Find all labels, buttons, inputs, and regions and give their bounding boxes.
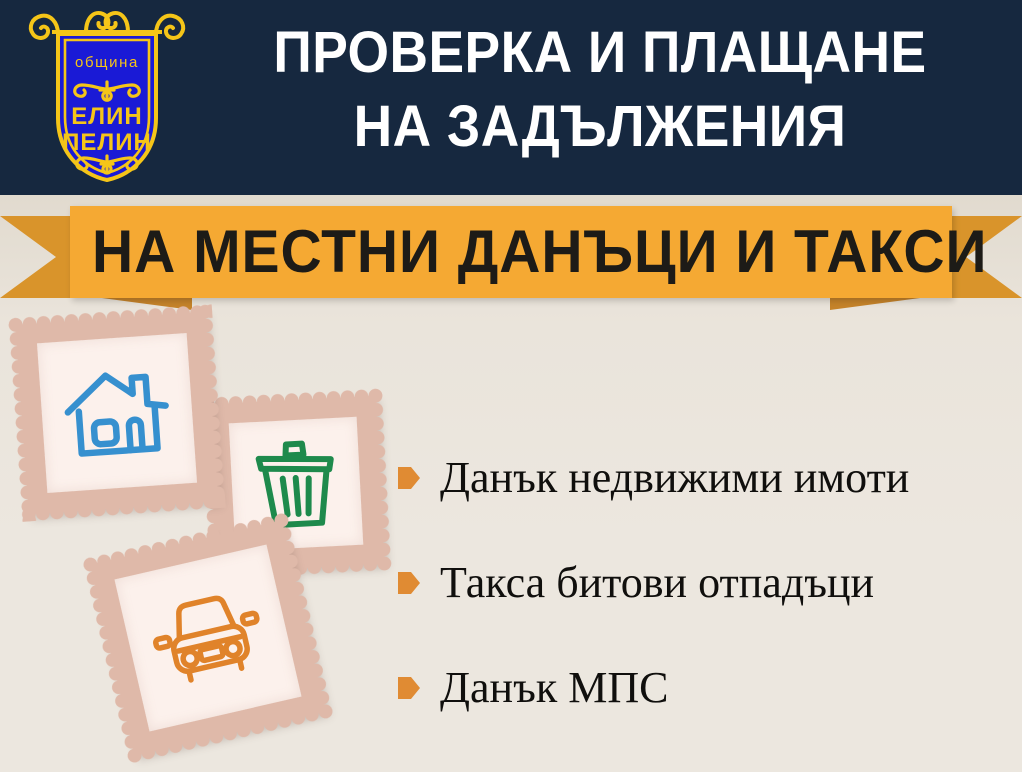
page-title-line-1: ПРОВЕРКА И ПЛАЩАНЕ xyxy=(223,16,977,90)
service-label-property-tax: Данък недвижими имоти xyxy=(440,456,909,500)
coat-of-arms: община ЕЛИН ПЕЛИН xyxy=(22,6,192,188)
subtitle-ribbon: НА МЕСТНИ ДАНЪЦИ И ТАКСИ xyxy=(0,198,1022,308)
ribbon-label: НА МЕСТНИ ДАНЪЦИ И ТАКСИ xyxy=(92,206,930,298)
stamp-paper xyxy=(114,544,301,731)
header-bar: община ЕЛИН ПЕЛИН xyxy=(0,0,1022,195)
services-list: Данък недвижими имоти Такса битови отпад… xyxy=(398,425,1008,740)
car-icon xyxy=(143,581,273,696)
crest-name-line1: ЕЛИН xyxy=(71,103,142,130)
poster-canvas: община ЕЛИН ПЕЛИН xyxy=(0,0,1022,772)
stamp-property xyxy=(16,312,219,515)
page-title-line-2: НА ЗАДЪЛЖЕНИЯ xyxy=(223,90,977,164)
list-item[interactable]: Такса битови отпадъци xyxy=(398,530,1008,635)
arrow-bullet-icon xyxy=(398,465,420,491)
service-label-vehicle-tax: Данък МПС xyxy=(440,666,668,710)
stamp-paper xyxy=(37,333,197,493)
list-item[interactable]: Данък недвижими имоти xyxy=(398,425,1008,530)
crest-top-label: община xyxy=(75,54,139,71)
house-icon xyxy=(59,361,175,464)
service-label-waste-fee: Такса битови отпадъци xyxy=(440,561,874,605)
crest-name-line2: ПЕЛИН xyxy=(62,129,152,156)
arrow-bullet-icon xyxy=(398,675,420,701)
page-title: ПРОВЕРКА И ПЛАЩАНЕ НА ЗАДЪЛЖЕНИЯ xyxy=(223,16,977,164)
stamp-vehicle-tax xyxy=(90,520,325,755)
arrow-bullet-icon xyxy=(398,570,420,596)
list-item[interactable]: Данък МПС xyxy=(398,635,1008,740)
stamp-perforation-right xyxy=(368,388,392,570)
stamp-perforation-left xyxy=(8,317,36,521)
ribbon-banner: НА МЕСТНИ ДАНЪЦИ И ТАКСИ xyxy=(70,206,952,298)
